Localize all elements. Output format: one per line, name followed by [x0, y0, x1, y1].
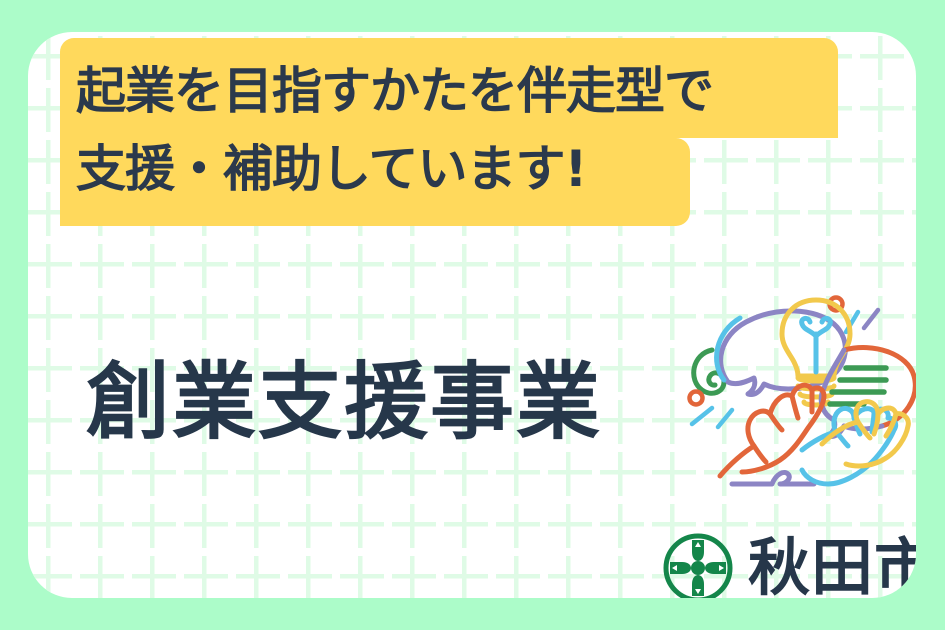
poster-root: 起業を目指すかたを伴走型で 支援・補助しています! 創業支援事業 — [0, 0, 945, 630]
headline-line-2: 支援・補助しています! — [60, 138, 690, 226]
headline-line-1: 起業を目指すかたを伴走型で — [60, 38, 838, 138]
headline: 起業を目指すかたを伴走型で 支援・補助しています! — [60, 38, 880, 226]
akita-city-emblem-icon — [662, 532, 734, 598]
white-card: 起業を目指すかたを伴走型で 支援・補助しています! 創業支援事業 — [28, 32, 916, 598]
akita-city-logo: 秋田市 — [662, 532, 916, 598]
page-title: 創業支援事業 — [86, 354, 602, 450]
collaboration-illustration — [668, 272, 916, 512]
logo-text: 秋田市 — [748, 537, 916, 598]
